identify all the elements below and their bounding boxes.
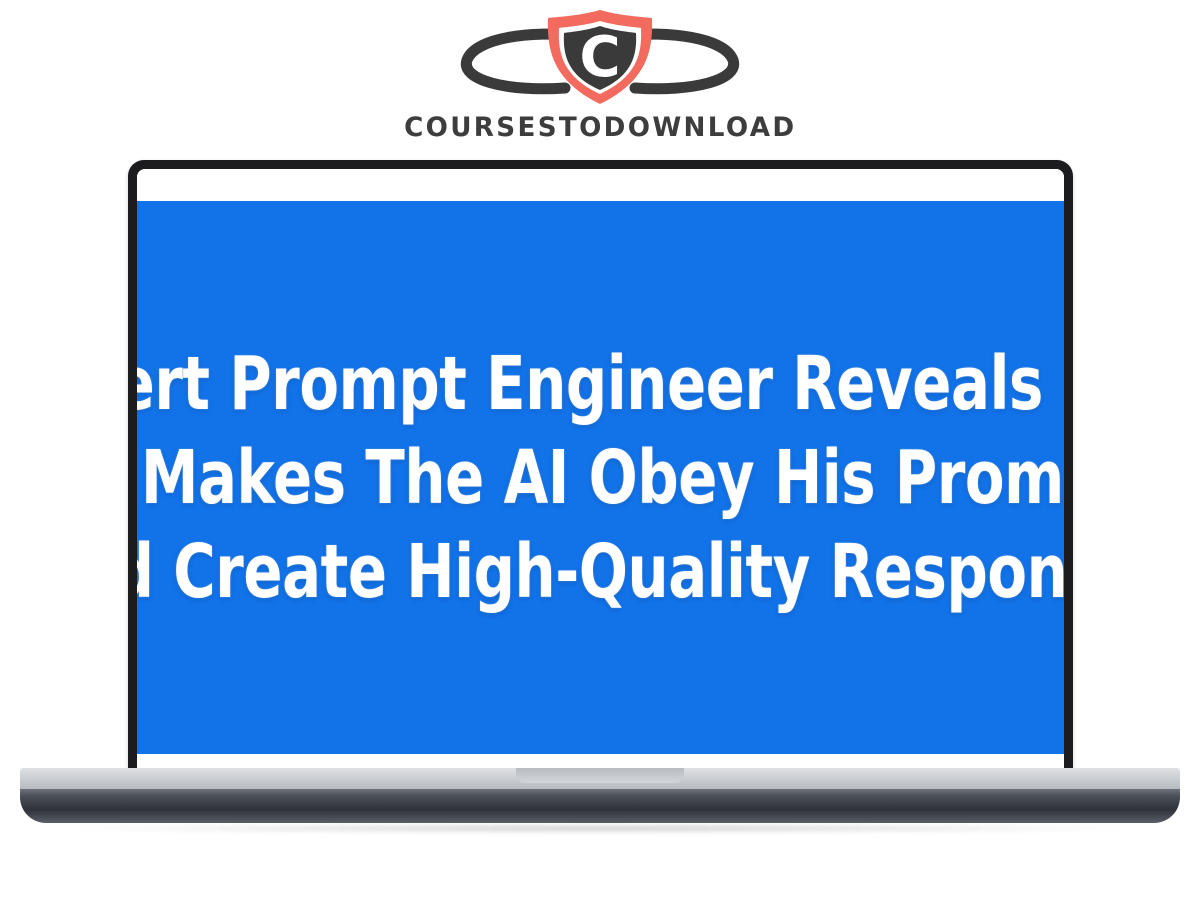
screen-top-white-bar [137, 169, 1064, 201]
laptop-screen: Expert Prompt Engineer Reveals How He Ma… [137, 169, 1064, 780]
laptop-drop-shadow [80, 824, 1120, 833]
laptop-lid: Expert Prompt Engineer Reveals How He Ma… [128, 160, 1073, 780]
slide-content: Expert Prompt Engineer Reveals How He Ma… [137, 201, 1064, 754]
laptop-base-body [20, 789, 1180, 823]
headline-line-3: And Create High-Quality Responses [137, 535, 1064, 609]
headline-line-2: He Makes The AI Obey His Prompts [137, 441, 1064, 515]
laptop-base-notch [516, 768, 684, 783]
laptop-base [20, 768, 1180, 832]
laptop-mockup: Expert Prompt Engineer Reveals How He Ma… [0, 0, 1200, 900]
headline-line-1: Expert Prompt Engineer Reveals How [137, 347, 1064, 421]
promo-page: C COURSESTODOWNLOAD Expert Prompt Engine… [0, 0, 1200, 900]
laptop-base-top-edge [20, 768, 1180, 790]
